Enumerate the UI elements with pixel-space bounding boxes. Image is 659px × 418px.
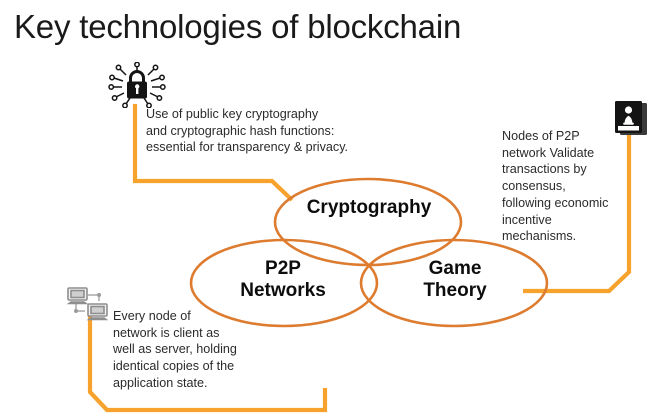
callout-text-game-theory: Nodes of P2P network Validate transactio… xyxy=(502,128,614,245)
venn-label-game-theory: Game Theory xyxy=(377,258,533,302)
venn-label-cryptography: Cryptography xyxy=(291,197,447,219)
pawn-card-icon xyxy=(612,100,650,138)
venn-label-p2p-networks: P2P Networks xyxy=(205,258,361,302)
venn-circle-cryptography xyxy=(275,179,461,265)
computer-network-icon xyxy=(66,286,112,322)
callout-text-p2p-networks: Every node of network is client as well … xyxy=(113,308,253,392)
lock-network-icon xyxy=(108,62,166,108)
callout-text-cryptography: Use of public key cryptography and crypt… xyxy=(146,106,376,156)
slide-canvas: Key technologies of blockchain Cryptogra… xyxy=(0,0,659,418)
